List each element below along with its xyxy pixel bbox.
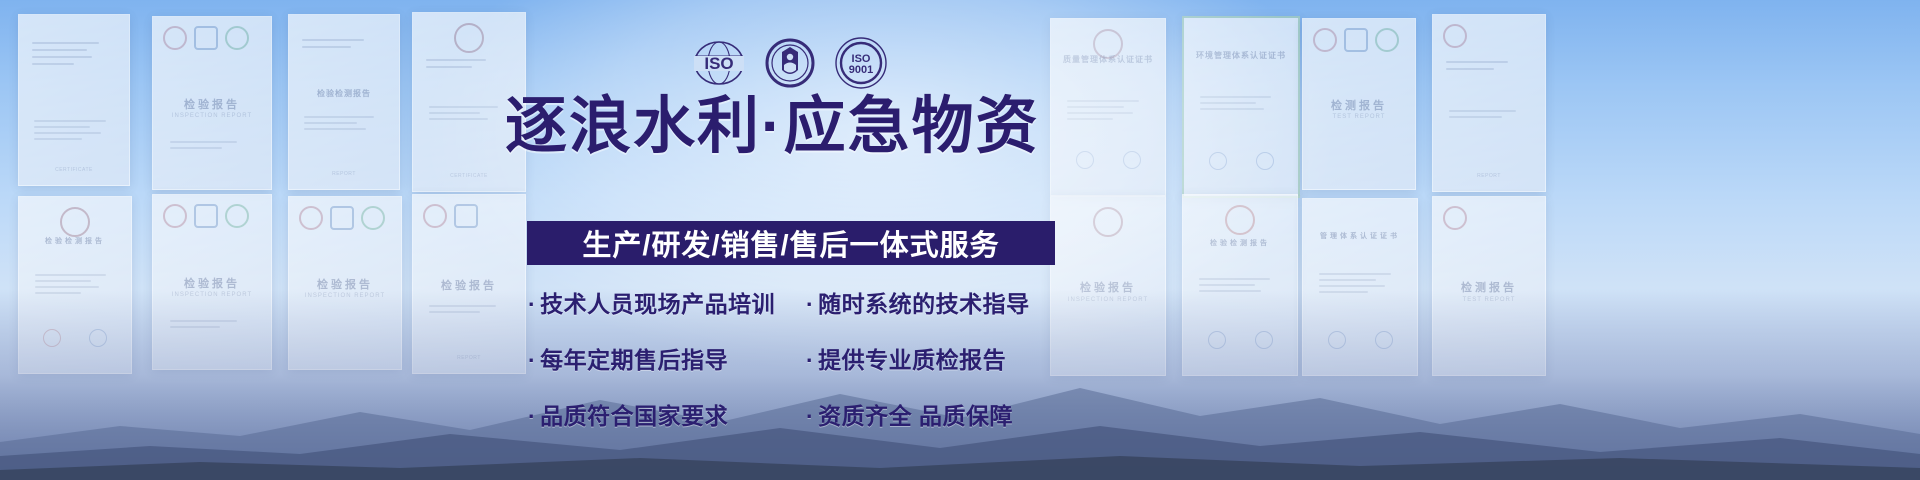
feature-bullet-grid: ·技术人员现场产品培训 ·随时系统的技术指导 ·每年定期售后指导 ·提供专业质检… [528,285,1068,431]
iso-9001-badge-icon: ISO 9001 [832,35,890,91]
certificate-title: 检验报告 [153,96,271,112]
certificate-thumbnail: 环境管理体系认证证书 [1182,16,1300,198]
certificate-footnote: REPORT [1433,173,1545,179]
certificate-title: 质量管理体系认证证书 [1051,54,1165,65]
bullet-dot-icon: · [806,347,814,373]
certificate-footnote: CERTIFICATE [19,167,129,173]
svg-text:9001: 9001 [849,64,873,76]
certificate-title: 检验检测报告 [1183,238,1297,248]
certificate-title: 环境管理体系认证证书 [1184,50,1298,61]
certificate-thumbnail: 检测报告 TEST REPORT [1302,18,1416,190]
service-subtitle-text: 生产/研发/销售/售后一体式服务 [582,222,999,264]
certificate-title: 检测报告 [1303,97,1415,113]
feature-bullet-label: 品质符合国家要求 [540,403,728,429]
feature-bullet-label: 资质齐全 品质保障 [818,403,1013,429]
certificate-title: 检验检测报告 [19,236,131,246]
certificate-thumbnail: 检验检测报告 REPORT [288,14,400,190]
feature-bullet: ·提供专业质检报告 [806,341,1068,375]
feature-bullet-label: 每年定期售后指导 [540,347,728,373]
certificate-footnote: CERTIFICATE [413,173,525,179]
certificate-thumbnail: CERTIFICATE [18,14,130,186]
certificate-subtitle: TEST REPORT [1303,114,1415,120]
feature-bullet-label: 技术人员现场产品培训 [540,291,775,317]
svg-text:ISO: ISO [704,54,733,73]
bullet-dot-icon: · [806,403,814,429]
feature-bullet: ·技术人员现场产品培训 [528,285,806,319]
feature-bullet: ·每年定期售后指导 [528,341,806,375]
certificate-thumbnail: REPORT [1432,14,1546,192]
service-subtitle-bar: 生产/研发/销售/售后一体式服务 [527,221,1055,265]
certificate-thumbnail: 检验报告 INSPECTION REPORT [152,16,272,190]
feature-bullet: ·品质符合国家要求 [528,397,806,431]
feature-bullet-label: 提供专业质检报告 [818,347,1006,373]
iso-globe-badge-icon: ISO [690,34,748,92]
quality-seal-badge-icon [764,36,816,90]
promo-banner: CERTIFICATE 检验报告 INSPECTION REPORT 检验检测报… [0,0,1920,480]
certificate-title: 检验报告 [153,275,271,291]
certification-badge-row: ISO ISO 9001 [690,32,890,94]
certificate-footnote: REPORT [289,171,399,177]
feature-bullet-label: 随时系统的技术指导 [818,291,1030,317]
certificate-title: 检验检测报告 [289,88,399,99]
bullet-dot-icon: · [528,347,536,373]
feature-bullet: ·资质齐全 品质保障 [806,397,1068,431]
bullet-dot-icon: · [528,403,536,429]
bullet-dot-icon: · [528,291,536,317]
certificate-subtitle: INSPECTION REPORT [153,113,271,119]
page-title: 逐浪水利·应急物资 [505,96,1075,158]
certificate-title: 管理体系认证证书 [1303,231,1417,241]
bullet-dot-icon: · [806,291,814,317]
feature-bullet: ·随时系统的技术指导 [806,285,1068,319]
